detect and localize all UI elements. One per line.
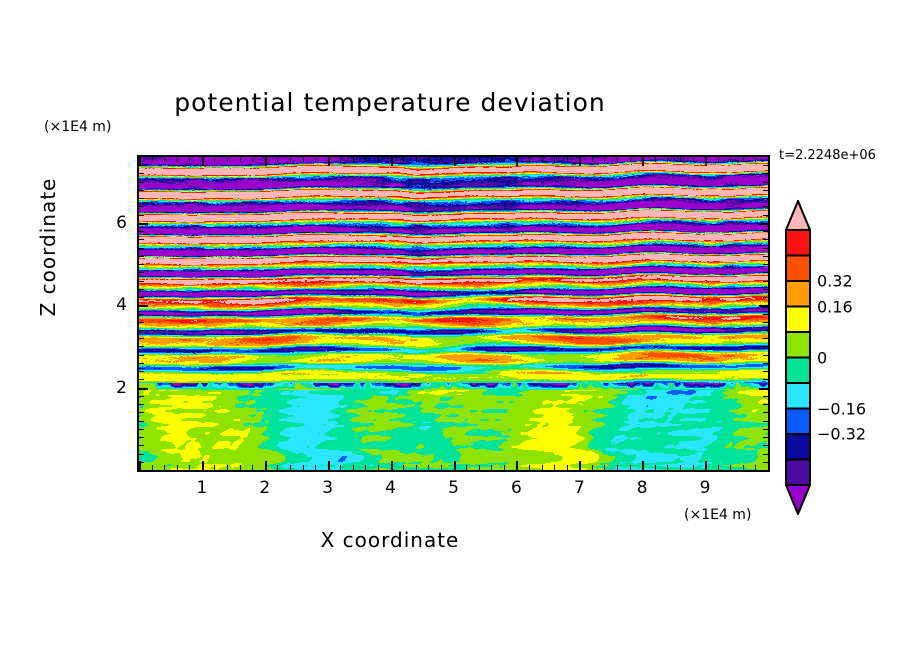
tick [252,465,253,470]
tick [240,157,241,162]
tick [139,173,144,174]
tick [139,322,144,323]
tick [416,465,417,470]
tick [303,157,304,162]
tick [504,465,505,470]
tick [214,157,215,162]
tick [763,330,768,331]
tick [763,215,768,216]
tick [139,190,144,191]
tick [705,461,707,470]
tick [139,379,144,380]
tick [479,157,480,162]
tick [139,371,144,372]
tick [139,297,144,298]
tick [763,404,768,405]
tick [491,157,492,162]
tick [416,157,417,162]
y-tick-label: 2 [97,378,127,398]
tick [516,461,518,470]
contour-canvas [139,157,768,470]
tick [315,465,316,470]
tick [763,371,768,372]
tick [403,465,404,470]
tick [277,465,278,470]
tick [139,396,144,397]
tick [755,465,756,470]
tick [391,157,393,166]
tick [428,157,429,162]
tick [763,322,768,323]
tick [554,465,555,470]
tick [139,206,144,207]
tick [328,461,330,470]
tick [277,157,278,162]
tick [139,264,144,265]
tick [516,157,518,166]
tick [139,330,144,331]
tick [763,445,768,446]
contour-plot-area[interactable] [137,155,770,472]
tick [693,157,694,162]
x-tick-label: 4 [385,478,396,498]
tick [763,256,768,257]
tick [466,465,467,470]
tick [763,338,768,339]
tick [139,182,144,183]
tick [139,305,148,307]
x-tick-label: 2 [259,478,270,498]
x-tick-label: 3 [322,478,333,498]
tick [441,157,442,162]
tick [630,465,631,470]
tick [730,157,731,162]
tick [759,305,768,307]
tick [139,462,144,463]
tick [542,465,543,470]
tick [139,198,144,199]
tick [227,157,228,162]
tick [763,272,768,273]
tick [365,465,366,470]
y-tick-label: 4 [97,295,127,315]
tick [567,465,568,470]
tick [592,465,593,470]
tick [763,239,768,240]
x-axis-unit-label: (×1E4 m) [684,507,751,523]
tick [763,297,768,298]
tick [705,157,707,166]
tick [139,437,144,438]
tick [763,231,768,232]
tick [542,157,543,162]
tick [265,461,267,470]
tick [763,289,768,290]
tick [139,165,144,166]
x-tick-label: 7 [574,478,585,498]
tick [139,272,144,273]
tick [139,231,144,232]
tick [139,215,144,216]
tick [139,223,148,225]
tick [491,465,492,470]
tick [667,157,668,162]
tick [189,465,190,470]
tick [680,465,681,470]
tick [139,421,144,422]
x-tick-label: 5 [448,478,459,498]
tick [152,465,153,470]
colorbar-tick-label: 0.16 [817,297,853,316]
y-axis-tick-labels: 246 [93,0,127,654]
tick [763,462,768,463]
tick [139,412,144,413]
tick [177,465,178,470]
colorbar-swatches [785,200,811,519]
tick [328,157,330,166]
colorbar-tick-label: 0.32 [817,272,853,291]
tick [763,429,768,430]
tick [202,461,204,470]
tick [227,465,228,470]
tick [403,157,404,162]
tick [680,157,681,162]
tick [139,256,144,257]
tick [642,157,644,166]
tick [139,429,144,430]
tick [592,157,593,162]
tick [655,465,656,470]
tick [214,465,215,470]
tick [139,338,144,339]
tick [759,470,768,472]
tick [139,470,148,472]
tick [240,465,241,470]
tick [353,157,354,162]
tick [763,264,768,265]
tick [763,248,768,249]
tick [763,182,768,183]
tick [763,379,768,380]
tick [139,445,144,446]
y-tick-label: 6 [97,213,127,233]
tick [630,157,631,162]
tick [763,412,768,413]
tick [479,465,480,470]
tick [139,363,144,364]
tick [763,454,768,455]
colorbar-tick-label: −0.32 [817,425,866,444]
tick [139,388,148,390]
tick [290,465,291,470]
tick [655,157,656,162]
tick [763,363,768,364]
tick [504,157,505,162]
tick [454,157,456,166]
tick [759,388,768,390]
tick [617,465,618,470]
tick [454,461,456,470]
tick [763,173,768,174]
tick [554,157,555,162]
tick [763,314,768,315]
tick [667,465,668,470]
colorbar[interactable] [785,200,811,515]
tick [579,461,581,470]
tick [604,465,605,470]
tick [139,314,144,315]
tick [378,157,379,162]
tick [763,396,768,397]
tick [139,289,144,290]
tick [290,157,291,162]
tick [693,465,694,470]
tick [365,157,366,162]
colorbar-svg [785,200,811,515]
colorbar-tick-label: 0 [817,348,827,367]
contour-field [139,157,768,470]
tick [768,157,770,166]
y-axis-title: Z coordinate [36,137,60,357]
tick [139,239,144,240]
tick [768,461,770,470]
tick [139,346,144,347]
tick [529,465,530,470]
tick [177,157,178,162]
tick [730,465,731,470]
tick [164,157,165,162]
tick [139,454,144,455]
tick [763,355,768,356]
tick [743,157,744,162]
x-tick-label: 1 [196,478,207,498]
tick [529,157,530,162]
x-tick-label: 9 [700,478,711,498]
tick [718,157,719,162]
tick [152,157,153,162]
tick [579,157,581,166]
x-tick-label: 8 [637,478,648,498]
tick [340,157,341,162]
tick [139,281,144,282]
tick [617,157,618,162]
tick [441,465,442,470]
tick [378,465,379,470]
tick [763,198,768,199]
tick [763,190,768,191]
tick [759,223,768,225]
x-tick-label: 6 [511,478,522,498]
tick [763,281,768,282]
tick [718,465,719,470]
time-annotation: t=2.2248e+06 [779,148,876,163]
tick [340,465,341,470]
tick [202,157,204,166]
tick [466,157,467,162]
tick [265,157,267,166]
tick [139,404,144,405]
tick [428,465,429,470]
tick [567,157,568,162]
tick [763,421,768,422]
tick [139,248,144,249]
tick [353,465,354,470]
tick [763,165,768,166]
tick [391,461,393,470]
tick [755,157,756,162]
tick [164,465,165,470]
tick [303,465,304,470]
tick [763,206,768,207]
tick [189,157,190,162]
tick [252,157,253,162]
tick [604,157,605,162]
tick [763,346,768,347]
tick [139,355,144,356]
tick [763,437,768,438]
colorbar-tick-label: −0.16 [817,399,866,418]
tick [642,461,644,470]
tick [743,465,744,470]
tick [315,157,316,162]
